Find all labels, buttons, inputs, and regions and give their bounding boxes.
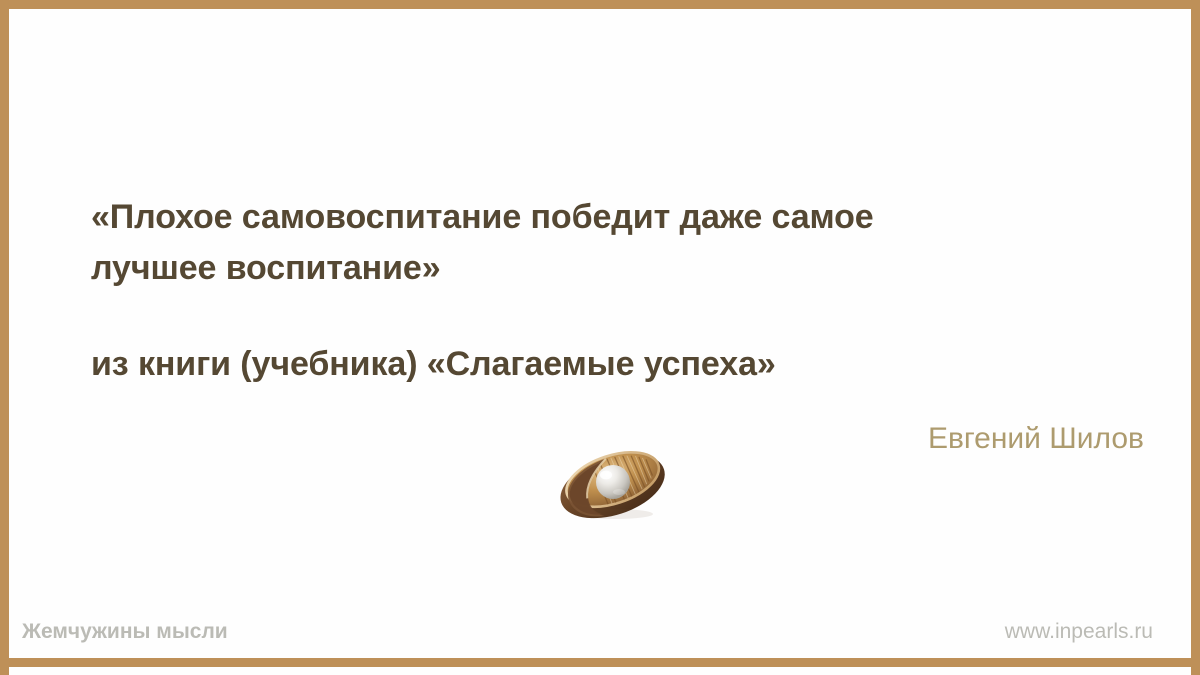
footer-site-name: Жемчужины мысли	[22, 620, 228, 644]
quote-line-1: «Плохое самовоспитание победит даже само…	[91, 192, 1121, 243]
bottom-accent-bar	[0, 658, 1200, 667]
author-name: Евгений Шилов	[928, 420, 1144, 458]
footer: Жемчужины мысли www.inpearls.ru	[9, 620, 1191, 650]
quote-text: «Плохое самовоспитание победит даже само…	[91, 192, 1121, 294]
quote-source: из книги (учебника) «Слагаемые успеха»	[91, 342, 776, 386]
shell-illustration-svg	[547, 442, 677, 522]
footer-site-url[interactable]: www.inpearls.ru	[1005, 620, 1153, 644]
oyster-shell-with-pearl-icon	[547, 442, 677, 522]
quote-card: «Плохое самовоспитание победит даже само…	[0, 0, 1200, 675]
quote-line-2: лучшее воспитание»	[91, 243, 1121, 294]
